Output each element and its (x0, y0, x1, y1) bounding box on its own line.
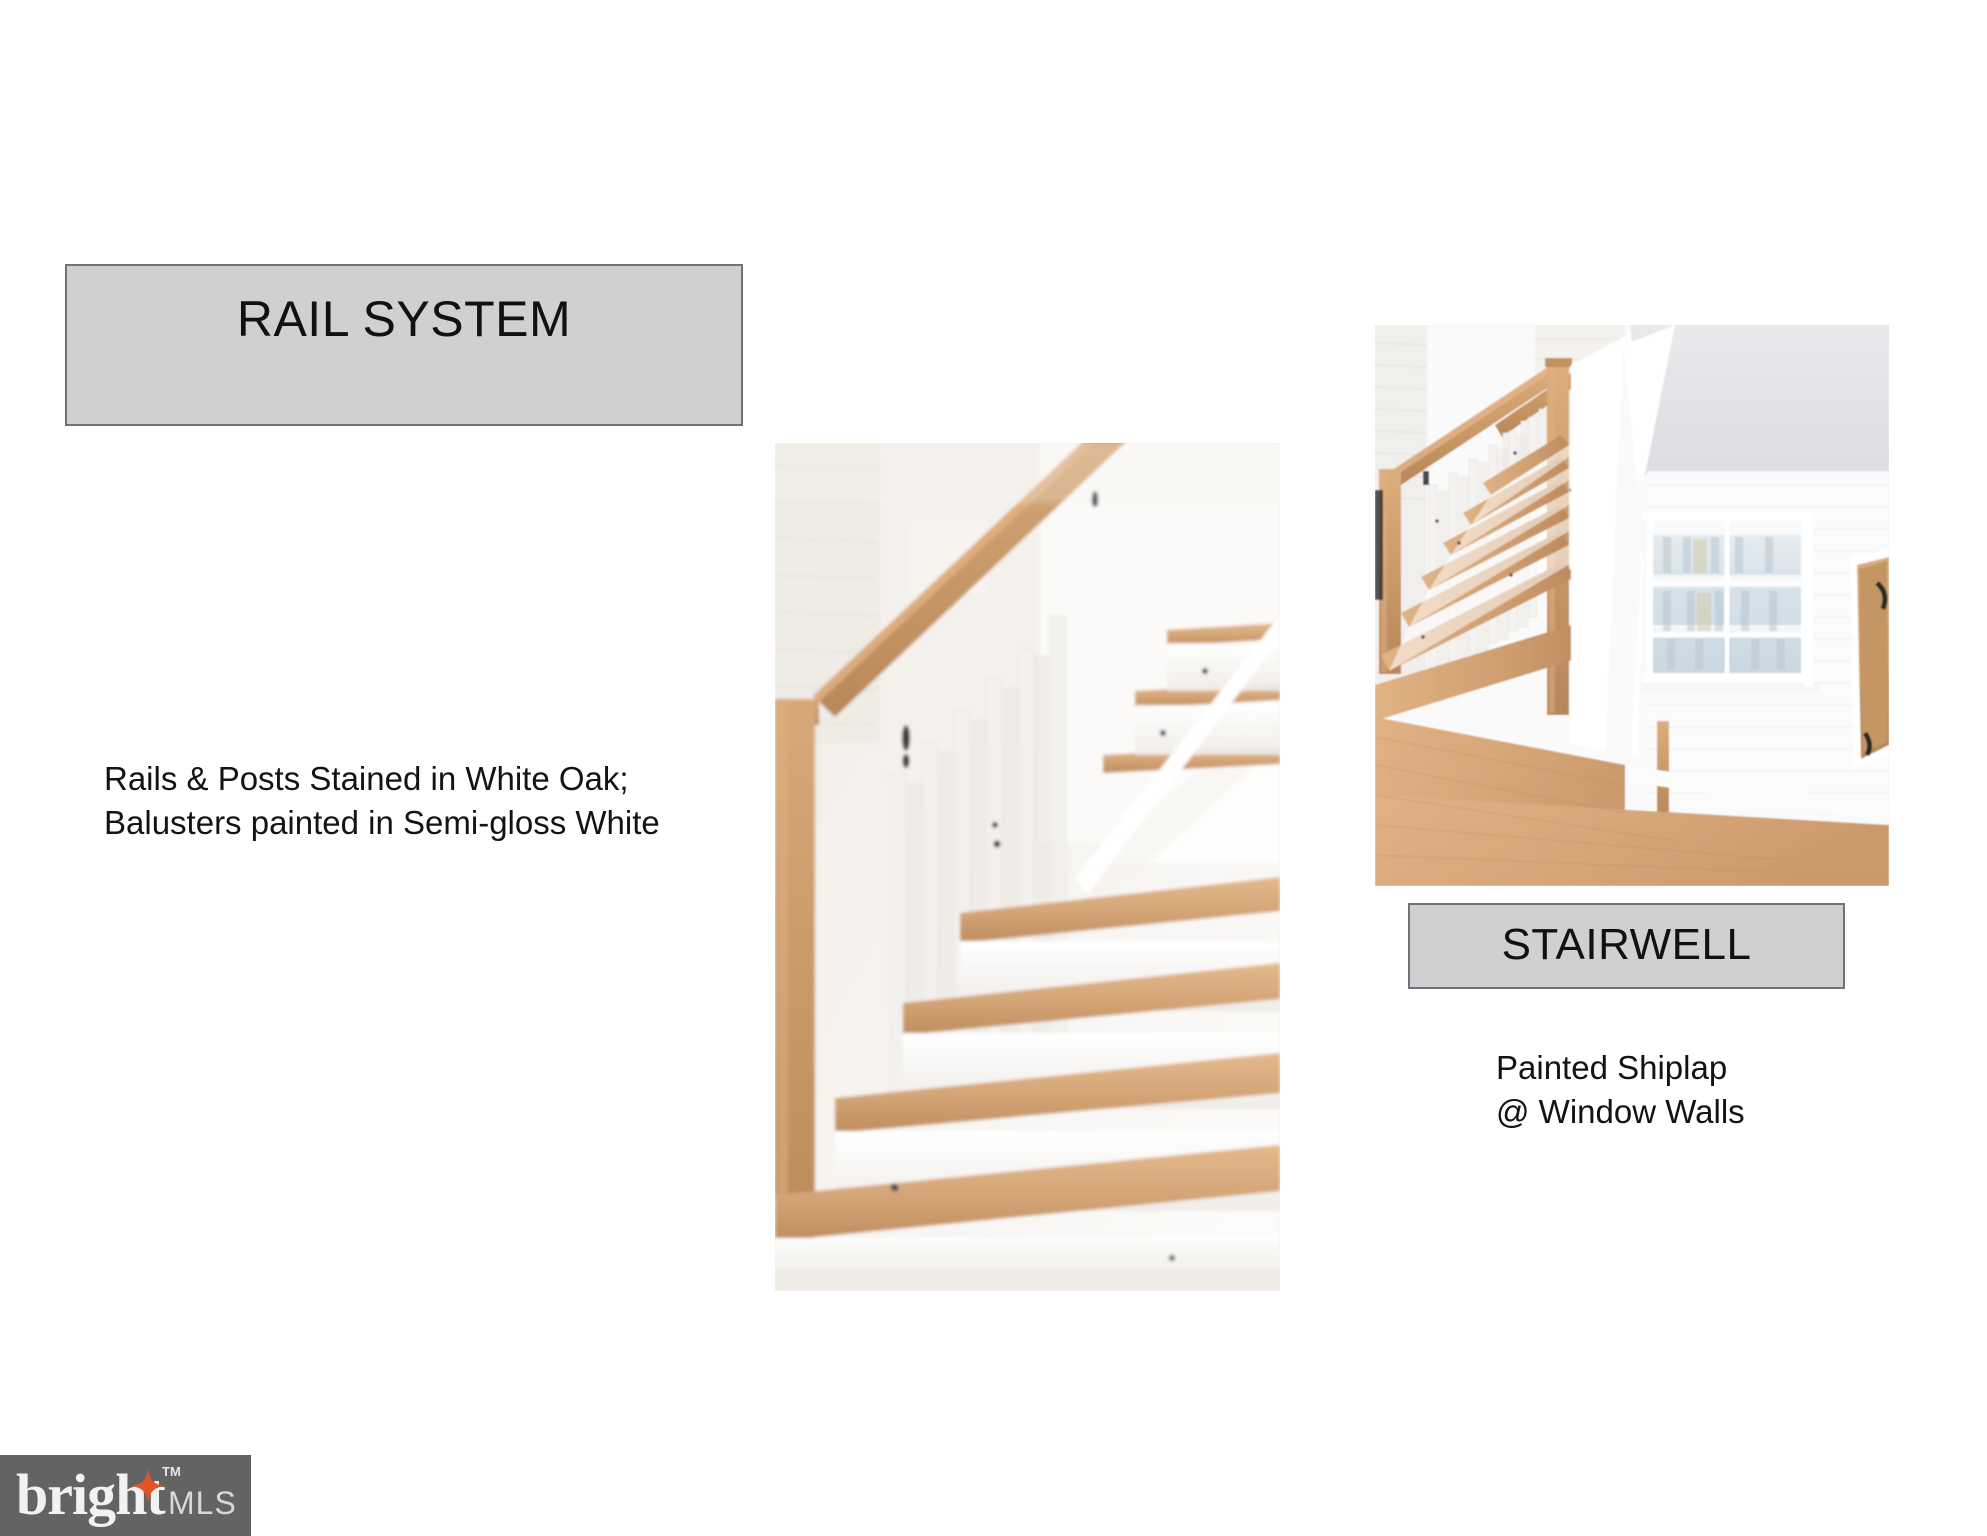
mls-wordmark: MLS (168, 1485, 237, 1522)
stairwell-photo-illustration (1375, 325, 1889, 886)
staircase-photo-illustration (775, 443, 1280, 1291)
rail-system-title-text: RAIL SYSTEM (237, 290, 571, 348)
bright-mls-logo: bright TM MLS (0, 1455, 251, 1536)
stairwell-photo (1375, 325, 1889, 886)
stairwell-title-text: STAIRWELL (1502, 920, 1752, 970)
rail-system-caption: Rails & Posts Stained in White Oak; Balu… (104, 757, 744, 844)
stairwell-title-box: STAIRWELL (1408, 903, 1845, 989)
rail-system-title-box: RAIL SYSTEM (65, 264, 743, 426)
four-point-star-icon (130, 1468, 166, 1504)
stairwell-caption: Painted Shiplap @ Window Walls (1496, 1046, 1916, 1133)
staircase-photo (775, 443, 1280, 1291)
trademark-symbol: TM (162, 1464, 181, 1479)
